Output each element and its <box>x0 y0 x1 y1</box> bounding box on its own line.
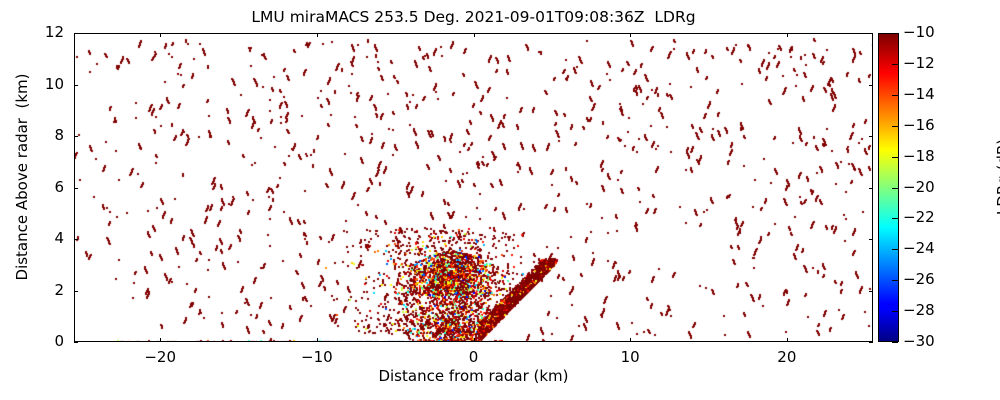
colorbar-tick-label: −22 <box>903 208 935 226</box>
colorbar-tick-label: −30 <box>903 332 935 350</box>
colorbar-tick-label: −26 <box>903 270 935 288</box>
y-tick <box>74 136 78 137</box>
colorbar-tick-label: −28 <box>903 301 935 319</box>
x-tick-top <box>317 33 318 37</box>
x-tick <box>787 338 788 342</box>
colorbar-tick-label: −12 <box>903 54 935 72</box>
y-tick-label: 10 <box>0 75 64 93</box>
x-tick-top <box>787 33 788 37</box>
x-tick-top <box>474 33 475 37</box>
y-tick <box>74 33 78 34</box>
colorbar-tick-label: −14 <box>903 85 935 103</box>
y-tick-right <box>869 291 873 292</box>
colorbar-tick <box>892 126 898 127</box>
x-tick-label: 10 <box>590 348 670 366</box>
x-tick-top <box>630 33 631 37</box>
colorbar-tick-label: −20 <box>903 178 935 196</box>
chart-title: LMU miraMACS 253.5 Deg. 2021-09-01T09:08… <box>74 8 873 26</box>
y-tick-label: 12 <box>0 23 64 41</box>
y-tick-right <box>869 136 873 137</box>
y-tick <box>74 239 78 240</box>
x-tick-top <box>160 33 161 37</box>
x-tick-label: −20 <box>120 348 200 366</box>
plot-area <box>74 33 873 342</box>
x-tick-label: 0 <box>434 348 514 366</box>
colorbar-tick <box>892 95 898 96</box>
colorbar-tick <box>892 280 898 281</box>
colorbar-tick <box>892 342 898 343</box>
figure: LMU miraMACS 253.5 Deg. 2021-09-01T09:08… <box>0 0 1000 400</box>
colorbar-tick-label: −24 <box>903 239 935 257</box>
scatter-canvas <box>75 34 873 342</box>
y-tick-label: 0 <box>0 332 64 350</box>
colorbar-tick <box>892 188 898 189</box>
x-tick-label: −10 <box>277 348 357 366</box>
colorbar-tick <box>892 64 898 65</box>
y-tick-label: 2 <box>0 281 64 299</box>
colorbar-tick <box>892 311 898 312</box>
y-tick-label: 6 <box>0 178 64 196</box>
y-axis-label: Distance Above radar (km) <box>13 22 31 332</box>
y-tick-right <box>869 239 873 240</box>
colorbar-tick <box>892 218 898 219</box>
x-tick <box>630 338 631 342</box>
y-tick <box>74 85 78 86</box>
colorbar-tick <box>892 157 898 158</box>
x-tick-label: 20 <box>747 348 827 366</box>
y-tick-label: 8 <box>0 126 64 144</box>
y-tick-right <box>869 33 873 34</box>
y-tick-right <box>869 85 873 86</box>
colorbar-tick-label: −16 <box>903 116 935 134</box>
x-tick <box>317 338 318 342</box>
x-tick <box>160 338 161 342</box>
colorbar-tick <box>892 33 898 34</box>
colorbar-tick-label: −18 <box>903 147 935 165</box>
y-tick <box>74 342 78 343</box>
y-tick-label: 4 <box>0 229 64 247</box>
y-tick <box>74 188 78 189</box>
y-tick-right <box>869 342 873 343</box>
x-tick <box>474 338 475 342</box>
colorbar-tick <box>892 249 898 250</box>
x-axis-label: Distance from radar (km) <box>74 367 873 385</box>
colorbar-tick-label: −10 <box>903 23 935 41</box>
y-tick <box>74 291 78 292</box>
y-tick-right <box>869 188 873 189</box>
colorbar-label: LDRg (dB) <box>994 22 1000 332</box>
